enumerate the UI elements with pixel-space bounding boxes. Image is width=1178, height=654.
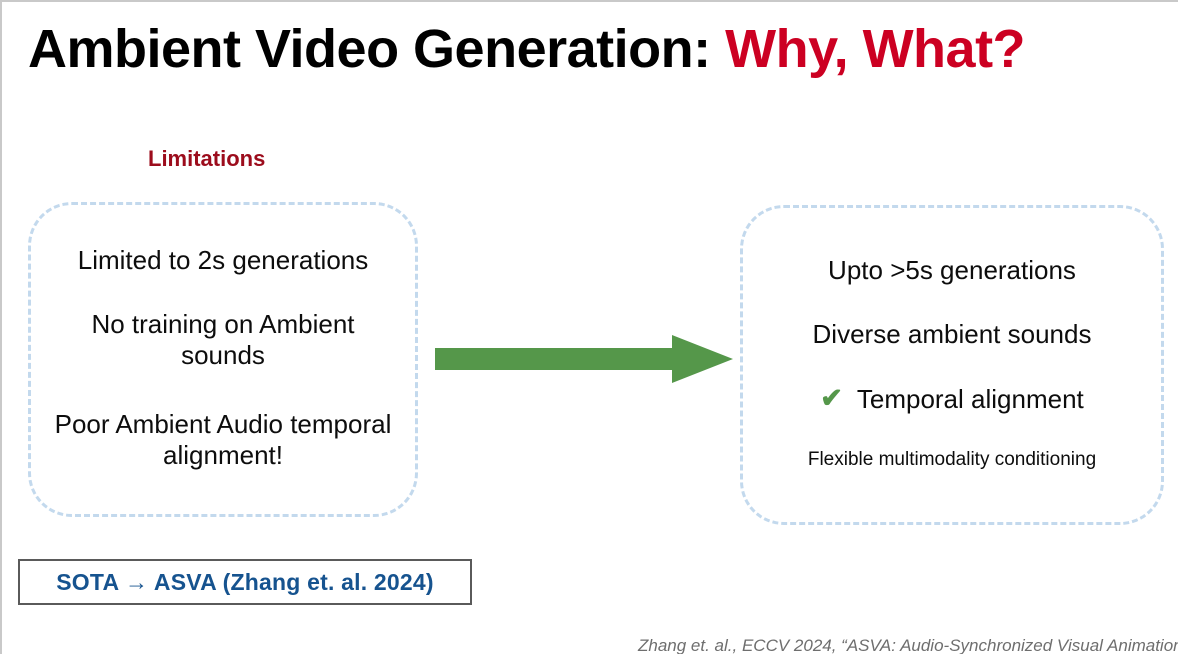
sota-callout-box: SOTA → ASVA (Zhang et. al. 2024) [18,559,472,605]
capability-item-3-label: Temporal alignment [857,384,1084,415]
capabilities-box: Upto >5s generations Diverse ambient sou… [740,205,1164,525]
page-title-main: Ambient Video Generation: [28,19,725,79]
capability-item-2: Diverse ambient sounds [759,319,1145,350]
limitation-item-3: Poor Ambient Audio temporal alignment! [49,409,397,470]
page-title: Ambient Video Generation: Why, What? [28,18,1148,80]
limitation-item-2: No training on Ambient sounds [49,309,397,370]
page-title-accent: Why, What? [725,19,1025,79]
slide-canvas: Ambient Video Generation: Why, What? Lim… [0,0,1178,654]
limitation-item-1: Limited to 2s generations [49,245,397,276]
section-label-limitations: Limitations [148,146,265,172]
footnote-citation: Zhang et. al., ECCV 2024, “ASVA: Audio-S… [638,636,1178,654]
sota-callout-label: SOTA → ASVA (Zhang et. al. 2024) [56,569,433,596]
check-icon: ✔ [820,385,843,412]
arrow-right-svg [435,335,733,383]
capability-item-3: ✔ Temporal alignment [759,384,1145,415]
limitations-box: Limited to 2s generations No training on… [28,202,418,517]
arrow-right-icon [435,335,733,383]
capability-item-4: Flexible multimodality conditioning [759,449,1145,471]
capability-item-1: Upto >5s generations [759,255,1145,286]
